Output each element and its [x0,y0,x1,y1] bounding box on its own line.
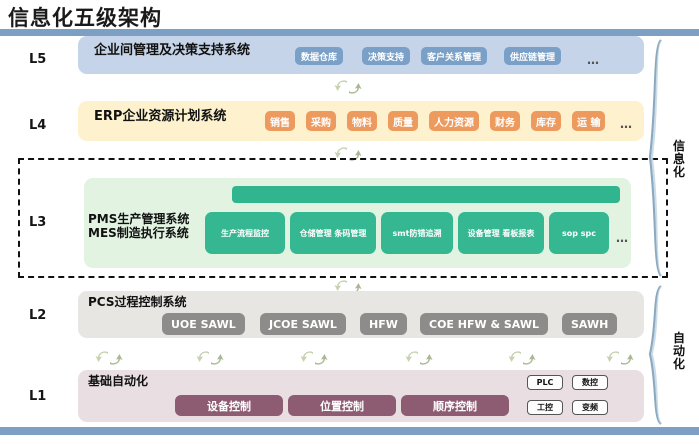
chip-l3-0[interactable]: 生产流程监控 [205,212,285,254]
chip-l2-2[interactable]: HFW [360,313,407,335]
chip-l4-3[interactable]: 质量 [388,111,418,131]
mini-chip-l1-2[interactable]: 工控 [527,400,563,415]
chip-l2-3[interactable]: COE HFW & SAWL [420,313,548,335]
brace-label-informatization: 信息化 [672,140,686,179]
level-l3-header-bar [232,186,620,203]
level-system-title-l3: PMS生产管理系统 MES制造执行系统 [88,212,189,240]
diagram-canvas: 信息化五级架构 L5 企业间管理及决策支持系统 数据仓库 决策支持 客户关系管理… [0,0,699,444]
cycle-arrows-icon [405,350,433,366]
chip-l5-3[interactable]: 供应链管理 [504,47,561,65]
chip-l5-2[interactable]: 客户关系管理 [421,47,487,65]
level-label-l3: L3 [29,215,46,230]
level-label-l5: L5 [29,52,46,67]
chip-l5-0[interactable]: 数据仓库 [295,47,343,65]
top-accent-bar [0,29,699,36]
chip-l4-7[interactable]: 运 输 [572,111,605,131]
cycle-arrows-icon [508,350,536,366]
page-title: 信息化五级架构 [8,2,162,32]
level-label-l2: L2 [29,308,46,323]
cycle-arrows-icon [196,350,224,366]
mini-chip-l1-3[interactable]: 变频 [572,400,608,415]
level-system-title-l2: PCS过程控制系统 [88,296,186,309]
chip-l2-4[interactable]: SAWH [562,313,617,335]
chip-l1-2[interactable]: 顺序控制 [401,395,509,416]
chip-l1-0[interactable]: 设备控制 [175,395,283,416]
chip-l1-1[interactable]: 位置控制 [288,395,396,416]
brace-informatization [648,38,664,282]
brace-label-automation: 自动化 [672,332,686,371]
cycle-arrows-icon [606,350,634,366]
cycle-arrows-icon [300,350,328,366]
brace-automation [648,284,664,430]
level-label-l1: L1 [29,389,46,404]
mini-chip-l1-1[interactable]: 数控 [572,375,608,390]
cycle-arrows-icon [95,350,123,366]
chip-l3-3[interactable]: 设备管理 看板报表 [458,212,544,254]
chip-l4-2[interactable]: 物料 [347,111,377,131]
chip-l4-4[interactable]: 人力资源 [429,111,479,131]
cycle-arrows-icon [334,79,362,95]
chip-l3-4[interactable]: sop spc [549,212,609,254]
chip-l4-1[interactable]: 采购 [306,111,336,131]
chip-l3-1[interactable]: 仓储管理 条码管理 [290,212,376,254]
level-system-title-l4: ERP企业资源计划系统 [94,110,226,123]
chip-l4-6[interactable]: 库存 [531,111,561,131]
bottom-accent-bar [0,427,699,435]
chip-l3-more: … [616,231,629,245]
mini-chip-l1-0[interactable]: PLC [527,375,563,390]
chip-l2-0[interactable]: UOE SAWL [162,313,245,335]
level-system-title-l1: 基础自动化 [88,375,148,388]
chip-l4-5[interactable]: 财务 [490,111,520,131]
level-label-l4: L4 [29,118,46,133]
chip-l2-1[interactable]: JCOE SAWL [260,313,346,335]
chip-l4-0[interactable]: 销售 [265,111,295,131]
chip-l5-1[interactable]: 决策支持 [362,47,410,65]
chip-l4-more: … [620,117,633,131]
chip-l3-2[interactable]: smt防错追溯 [381,212,453,254]
level-system-title-l3-line2: MES制造执行系统 [88,226,189,240]
level-system-title-l5: 企业间管理及决策支持系统 [94,44,250,57]
chip-l5-more: … [587,53,600,67]
level-system-title-l3-line1: PMS生产管理系统 [88,212,189,226]
